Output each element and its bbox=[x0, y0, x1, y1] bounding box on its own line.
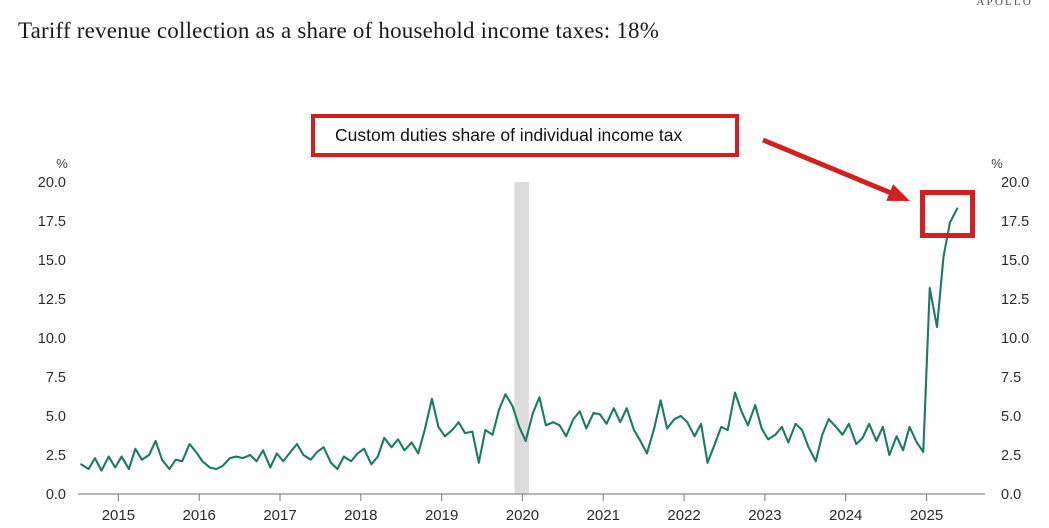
callout-box: Custom duties share of individual income… bbox=[311, 114, 739, 157]
x-axis-tick-label: 2018 bbox=[344, 507, 377, 524]
recession-band bbox=[514, 182, 529, 494]
x-axis-tick-label: 2015 bbox=[102, 507, 135, 524]
y-axis-tick-label-right: 2.5 bbox=[1001, 448, 1021, 464]
y-axis-tick-label-right: 0.0 bbox=[1001, 487, 1021, 503]
y-axis-tick-label-right: 17.5 bbox=[1001, 214, 1029, 230]
y-axis-tick-label-left: 2.5 bbox=[46, 448, 66, 464]
x-axis-tick-label: 2019 bbox=[425, 507, 458, 524]
y-axis-tick-label-right: 5.0 bbox=[1001, 409, 1021, 425]
y-axis-unit-left: % bbox=[56, 156, 68, 171]
chart-canvas: 0.00.02.52.55.05.07.57.510.010.012.512.5… bbox=[0, 0, 1049, 528]
x-axis-tick-label: 2020 bbox=[506, 507, 539, 524]
y-axis-tick-label-right: 7.5 bbox=[1001, 370, 1021, 386]
x-axis-tick-label: 2023 bbox=[748, 507, 781, 524]
chart-page: APOLLO Tariff revenue collection as a sh… bbox=[0, 0, 1049, 528]
y-axis-tick-label-left: 17.5 bbox=[38, 214, 66, 230]
x-axis-tick-label: 2017 bbox=[263, 507, 296, 524]
y-axis-tick-label-right: 20.0 bbox=[1001, 175, 1029, 191]
callout-arrow-head bbox=[886, 184, 910, 201]
y-axis-unit-right: % bbox=[991, 156, 1003, 171]
y-axis-tick-label-right: 10.0 bbox=[1001, 331, 1029, 347]
y-axis-tick-label-left: 10.0 bbox=[38, 331, 66, 347]
x-axis-tick-label: 2022 bbox=[667, 507, 700, 524]
x-axis-tick-label: 2021 bbox=[587, 507, 620, 524]
y-axis-tick-label-left: 5.0 bbox=[46, 409, 66, 425]
x-axis-tick-label: 2025 bbox=[910, 507, 943, 524]
x-axis-tick-label: 2024 bbox=[829, 507, 862, 524]
y-axis-tick-label-right: 12.5 bbox=[1001, 292, 1029, 308]
callout-arrow-shaft bbox=[763, 140, 896, 195]
y-axis-tick-label-left: 12.5 bbox=[38, 292, 66, 308]
y-axis-tick-label-right: 15.0 bbox=[1001, 253, 1029, 269]
y-axis-tick-label-left: 15.0 bbox=[38, 253, 66, 269]
spike-highlight-rect bbox=[920, 190, 975, 238]
x-axis-tick-label: 2016 bbox=[183, 507, 216, 524]
y-axis-tick-label-left: 0.0 bbox=[46, 487, 66, 503]
line-chart-plot: 0.00.02.52.55.05.07.57.510.010.012.512.5… bbox=[0, 0, 1049, 528]
y-axis-tick-label-left: 7.5 bbox=[46, 370, 66, 386]
callout-label: Custom duties share of individual income… bbox=[335, 125, 682, 146]
y-axis-tick-label-left: 20.0 bbox=[38, 175, 66, 191]
